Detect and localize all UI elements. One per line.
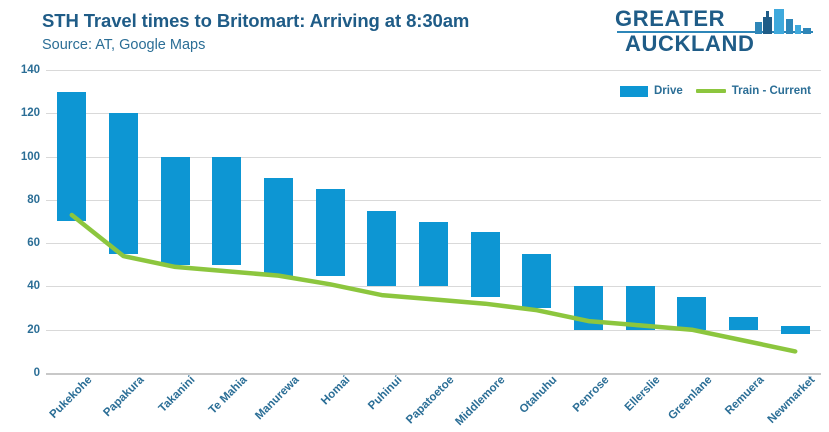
x-axis-tick-te-mahia: Te Mahia: [207, 374, 250, 417]
x-axis-tick-takanini: Takanini: [157, 374, 198, 415]
page-title: STH Travel times to Britomart: Arriving …: [42, 10, 469, 32]
x-axis-tick-newmarket: Newmarket: [766, 374, 818, 426]
x-axis-tick-pukekohe: Pukekohe: [47, 374, 94, 421]
x-axis-tick-homai: Homai: [319, 374, 352, 407]
logo-text-auckland: AUCKLAND: [625, 32, 754, 56]
x-axis-tick-papakura: Papakura: [101, 374, 146, 419]
legend-label-train-current: Train - Current: [732, 85, 811, 97]
city-skyline-icon: [753, 8, 813, 34]
train-current-line: [0, 64, 829, 374]
x-axis-tick-otahuhu: Otahuhu: [517, 374, 559, 416]
legend-label-drive: Drive: [654, 85, 683, 97]
x-axis-tick-middlemore: Middlemore: [454, 374, 508, 428]
chart-header: STH Travel times to Britomart: Arriving …: [0, 0, 829, 64]
legend-item-train-current[interactable]: Train - Current: [696, 85, 811, 97]
x-axis-tick-manurewa: Manurewa: [253, 374, 301, 422]
x-axis-tick-greenlane: Greenlane: [666, 374, 714, 422]
chart-subtitle: Source: AT, Google Maps: [42, 37, 205, 53]
legend-bar-swatch-icon: [620, 86, 648, 97]
x-axis-tick-puhinui: Puhinui: [366, 374, 404, 412]
chart-legend: Drive Train - Current: [620, 85, 811, 97]
x-axis-tick-penrose: Penrose: [570, 374, 611, 415]
logo-text-greater: GREATER: [615, 7, 725, 31]
x-axis-tick-remuera: Remuera: [723, 374, 766, 417]
x-axis-tick-papatoetoe: Papatoetoe: [404, 374, 456, 426]
greater-auckland-logo: GREATER AUCKLAND: [615, 6, 815, 60]
chart-plot-area: 020406080100120140 Drive Train - Current: [0, 64, 829, 374]
legend-line-swatch-icon: [696, 89, 726, 93]
legend-item-drive[interactable]: Drive: [620, 85, 683, 97]
chart-screenshot: STH Travel times to Britomart: Arriving …: [0, 0, 829, 432]
x-axis-tick-ellerslie: Ellerslie: [623, 374, 663, 414]
x-axis-labels: PukekohePapakuraTakaniniTe MahiaManurewa…: [0, 374, 829, 432]
